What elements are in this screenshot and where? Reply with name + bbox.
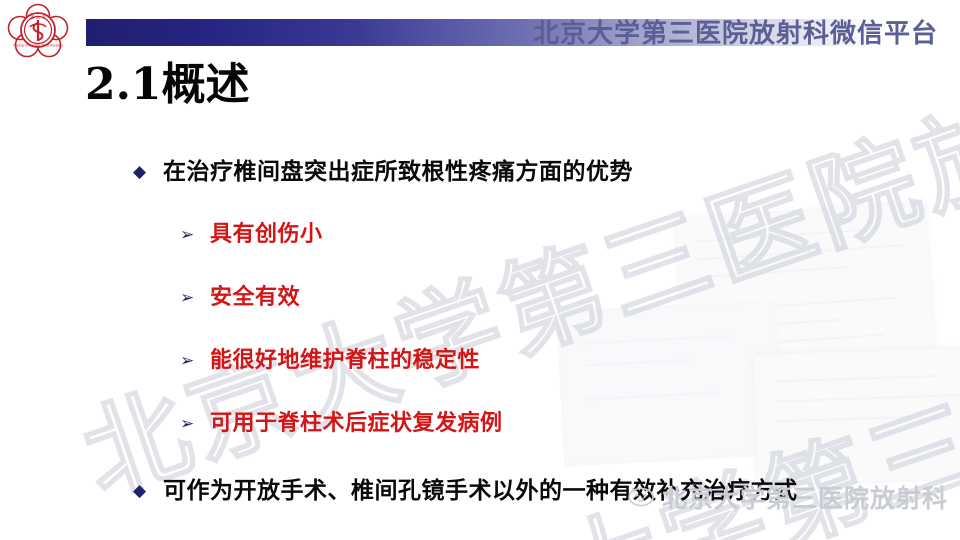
background-photo-decoration bbox=[550, 200, 960, 500]
list-item: ◆ 可作为开放手术、椎间孔镜手术以外的一种有效补充治疗方式 bbox=[133, 475, 798, 507]
diagonal-watermark-line-2: 北京大学第三医院放射科微信平台 bbox=[325, 36, 960, 540]
arrow-bullet-icon: ➢ bbox=[180, 409, 210, 439]
arrow-bullet-icon: ➢ bbox=[180, 220, 210, 250]
list-item-label: 可用于脊柱术后症状复发病例 bbox=[210, 409, 503, 439]
diamond-bullet-icon: ◆ bbox=[133, 156, 163, 188]
page-title-number: 2.1 bbox=[85, 59, 162, 110]
list-item: ➢ 可用于脊柱术后症状复发病例 bbox=[180, 409, 503, 439]
list-item-label: 安全有效 bbox=[210, 283, 300, 313]
list-item-label: 可作为开放手术、椎间孔镜手术以外的一种有效补充治疗方式 bbox=[163, 475, 798, 507]
page-title: 2.1概述 bbox=[85, 58, 250, 112]
hospital-logo-icon: 北 大 三 Peking University Third Hospital bbox=[6, 2, 70, 57]
list-item: ➢ 具有创伤小 bbox=[180, 220, 323, 250]
list-item-label: 具有创伤小 bbox=[210, 220, 323, 250]
list-item: ➢ 能很好地维护脊柱的稳定性 bbox=[180, 346, 480, 376]
list-item-label: 在治疗椎间盘突出症所致根性疼痛方面的优势 bbox=[163, 156, 633, 188]
arrow-bullet-icon: ➢ bbox=[180, 346, 210, 376]
header-banner-title: 北京大学第三医院放射科微信平台 bbox=[533, 20, 938, 48]
diamond-bullet-icon: ◆ bbox=[133, 475, 163, 507]
slide-canvas: 北京大学第三医院放射科微信平台 北京大学第三医院放射科微信平台 北 大 三 Pe… bbox=[0, 0, 960, 540]
svg-text:Peking University Third Hospit: Peking University Third Hospital bbox=[13, 44, 62, 48]
list-item: ➢ 安全有效 bbox=[180, 283, 300, 313]
page-title-text: 概述 bbox=[162, 59, 250, 110]
arrow-bullet-icon: ➢ bbox=[180, 283, 210, 313]
svg-text:北 大 三: 北 大 三 bbox=[30, 14, 47, 21]
list-item: ◆ 在治疗椎间盘突出症所致根性疼痛方面的优势 bbox=[133, 156, 633, 188]
list-item-label: 能很好地维护脊柱的稳定性 bbox=[210, 346, 480, 376]
